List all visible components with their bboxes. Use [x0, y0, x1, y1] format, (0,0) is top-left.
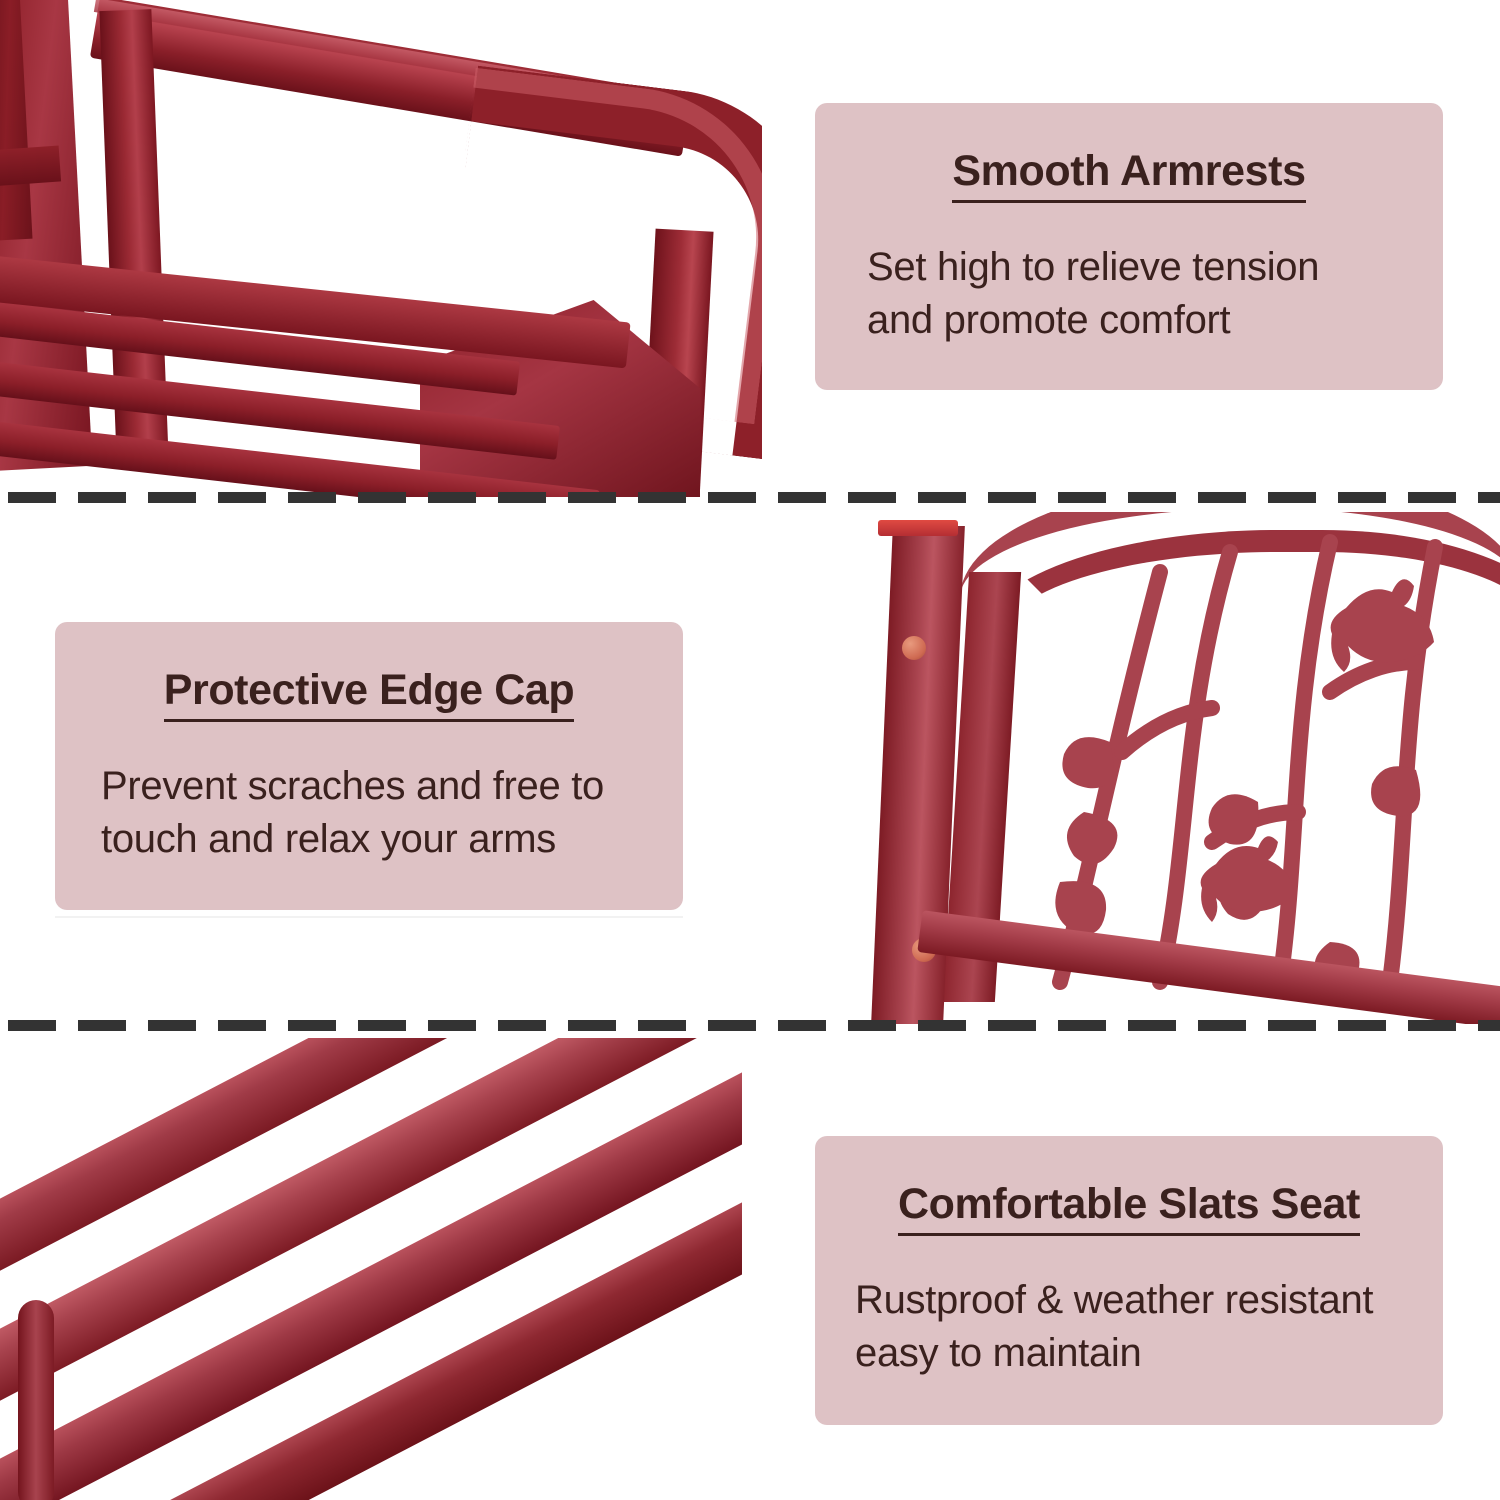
divider-dash	[148, 492, 196, 503]
divider-dash	[568, 492, 616, 503]
divider-dash	[568, 1020, 616, 1031]
divider-dash	[1408, 1020, 1456, 1031]
divider-dash	[778, 1020, 826, 1031]
divider-dash	[8, 492, 56, 503]
divider-dash	[218, 1020, 266, 1031]
callout-title: Smooth Armrests	[952, 147, 1305, 203]
divider-dash	[1128, 492, 1176, 503]
callout-title-wrap: Protective Edge Cap	[101, 666, 637, 722]
divider-dash	[638, 492, 686, 503]
bench-leg	[18, 1300, 54, 1500]
callout-title: Comfortable Slats Seat	[898, 1180, 1360, 1236]
divider-dash	[218, 492, 266, 503]
divider-dash	[498, 1020, 546, 1031]
callout-body: Prevent scraches and free to touch and r…	[101, 760, 637, 866]
divider-dash	[78, 492, 126, 503]
callout-title-wrap: Smooth Armrests	[867, 147, 1391, 203]
callout-title-wrap: Comfortable Slats Seat	[855, 1180, 1403, 1236]
callout-body-line: Set high to relieve tension	[867, 241, 1391, 294]
divider-dash	[1058, 492, 1106, 503]
divider-dash	[78, 1020, 126, 1031]
photo-ornate-backrest	[860, 512, 1500, 1024]
callout-smooth-armrests: Smooth Armrests Set high to relieve tens…	[815, 103, 1443, 390]
divider-dash	[1198, 1020, 1246, 1031]
divider-dash	[708, 492, 756, 503]
divider-dash	[988, 1020, 1036, 1031]
divider-dash	[1478, 492, 1500, 503]
dashed-divider-bottom	[0, 1020, 1500, 1031]
divider-dash	[778, 492, 826, 503]
divider-dash	[1338, 492, 1386, 503]
divider-dash	[1478, 1020, 1500, 1031]
callout-body-line: and promote comfort	[867, 294, 1391, 347]
divider-dash	[918, 492, 966, 503]
divider-dash	[1198, 492, 1246, 503]
divider-dash	[1128, 1020, 1176, 1031]
divider-dash	[848, 492, 896, 503]
divider-dash	[358, 1020, 406, 1031]
divider-dash	[8, 1020, 56, 1031]
divider-dash	[1268, 1020, 1316, 1031]
divider-dash	[148, 1020, 196, 1031]
callout-body-line: touch and relax your arms	[101, 813, 637, 866]
divider-dash	[918, 1020, 966, 1031]
infographic-canvas: Smooth Armrests Set high to relieve tens…	[0, 0, 1500, 1500]
callout-body-line: Rustproof & weather resistant	[855, 1274, 1403, 1327]
photo-armrest-closeup	[0, 0, 762, 497]
divider-dash	[1408, 492, 1456, 503]
callout-body-line: Prevent scraches and free to	[101, 760, 637, 813]
seat-slat-diagonal	[0, 1038, 742, 1398]
callout-body: Rustproof & weather resistant easy to ma…	[855, 1274, 1403, 1380]
dashed-divider-top	[0, 492, 1500, 503]
callout-body-line: easy to maintain	[855, 1327, 1403, 1380]
divider-dash	[988, 492, 1036, 503]
divider-dash	[428, 1020, 476, 1031]
divider-dash	[288, 492, 336, 503]
callout-protective-edge-cap: Protective Edge Cap Prevent scraches and…	[55, 622, 683, 910]
callout-body: Set high to relieve tension and promote …	[867, 241, 1391, 347]
divider-dash	[428, 492, 476, 503]
divider-dash	[1338, 1020, 1386, 1031]
divider-dash	[708, 1020, 756, 1031]
divider-dash	[1058, 1020, 1106, 1031]
divider-dash	[288, 1020, 336, 1031]
callout-seam	[55, 916, 683, 918]
divider-dash	[358, 492, 406, 503]
callout-comfortable-slats-seat: Comfortable Slats Seat Rustproof & weath…	[815, 1136, 1443, 1425]
divider-dash	[638, 1020, 686, 1031]
photo-seat-slats	[0, 1038, 742, 1500]
divider-dash	[498, 492, 546, 503]
callout-title: Protective Edge Cap	[164, 666, 575, 722]
divider-dash	[1268, 492, 1316, 503]
divider-dash	[848, 1020, 896, 1031]
